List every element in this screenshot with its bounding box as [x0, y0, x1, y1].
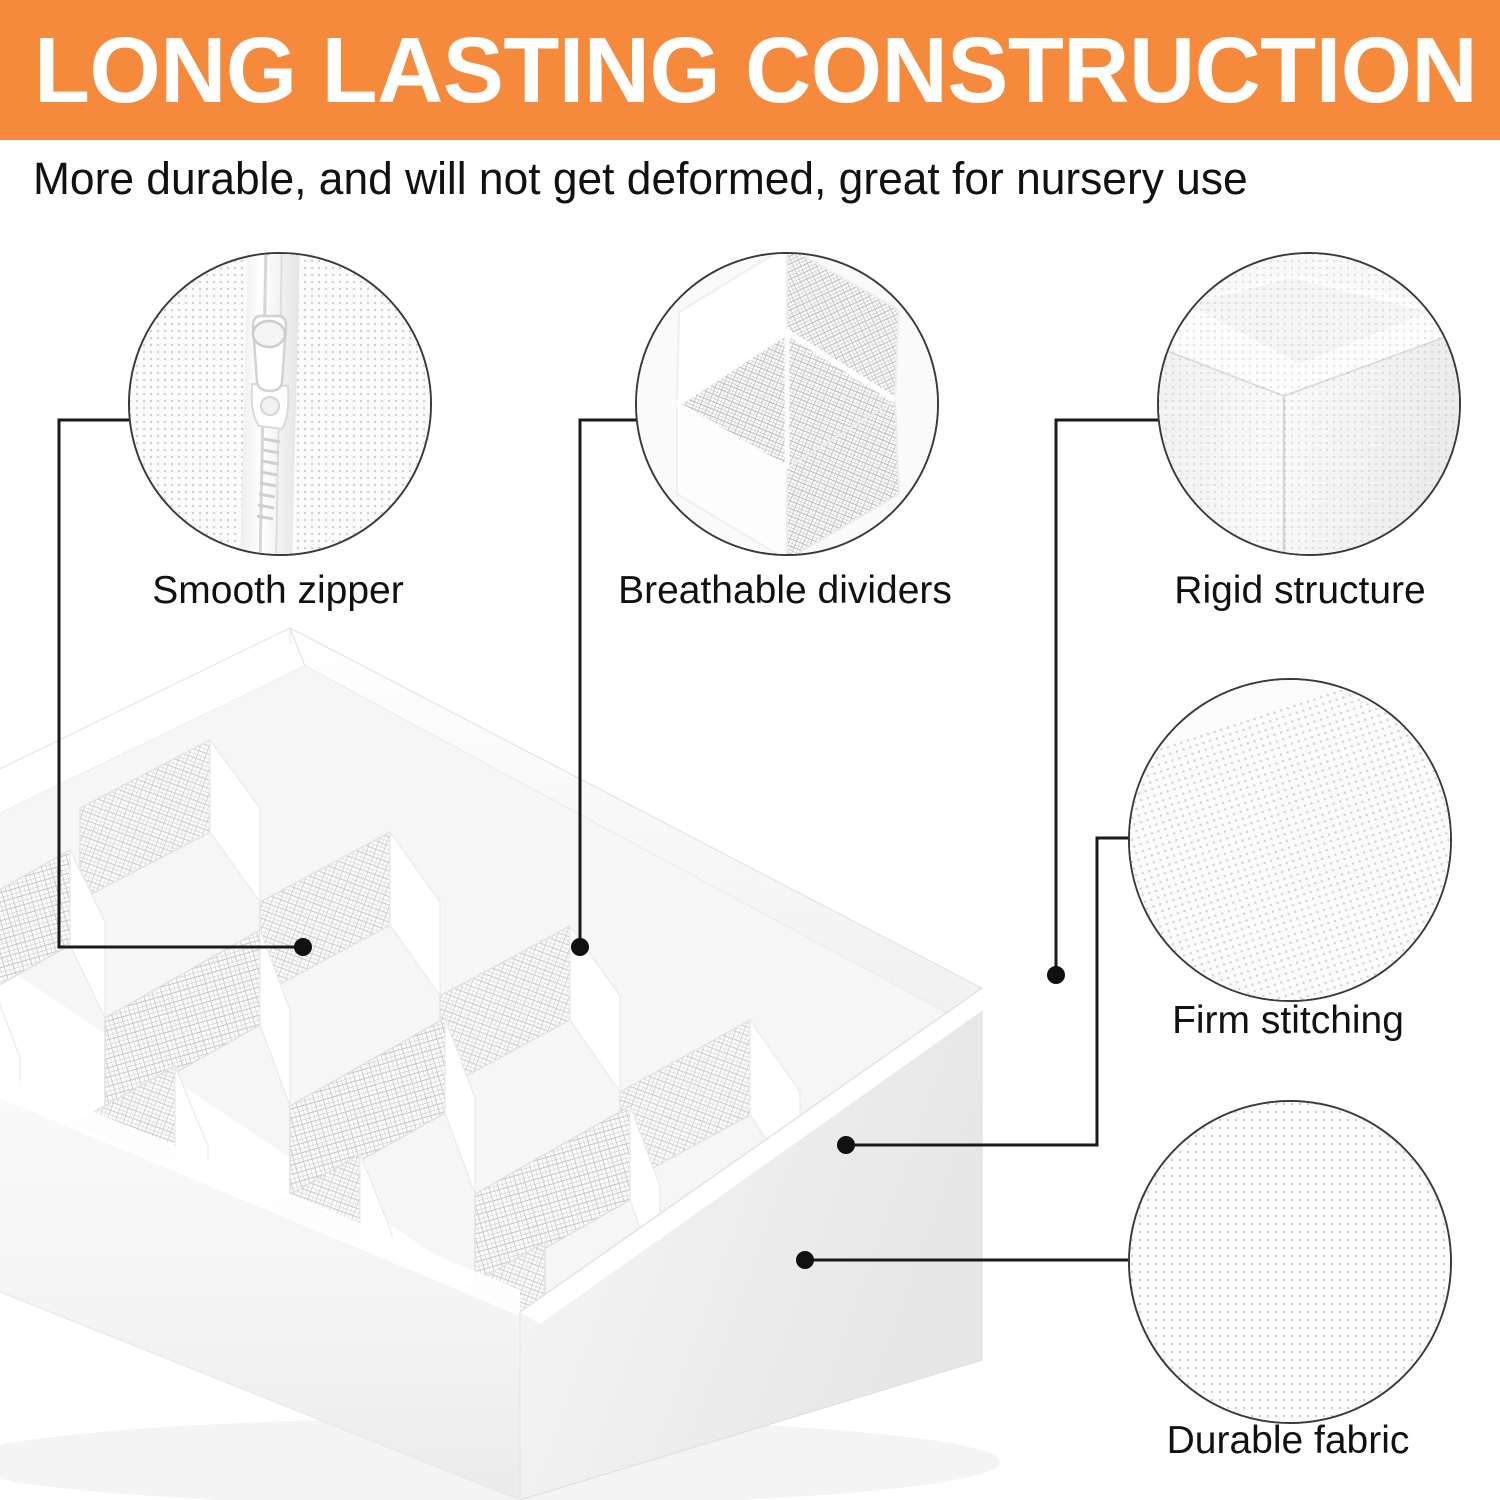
durable-fabric-image: [1128, 1100, 1452, 1424]
header-banner: LONG LASTING CONSTRUCTION: [0, 0, 1500, 140]
callout-label-breathable-dividers: Breathable dividers: [585, 568, 985, 614]
smooth-zipper-image: [128, 252, 432, 556]
subtitle-text: More durable, and will not get deformed,…: [33, 152, 1451, 206]
callout-label-durable-fabric: Durable fabric: [1118, 1418, 1458, 1464]
mesh-divider-icon: [637, 254, 937, 554]
product-image: [0, 600, 1140, 1500]
page-title: LONG LASTING CONSTRUCTION: [34, 20, 1477, 120]
breathable-dividers-image: [635, 252, 939, 556]
rigid-structure-image: [1157, 252, 1461, 556]
callout-label-rigid-structure: Rigid structure: [1125, 568, 1475, 614]
product-illustration: [0, 600, 1140, 1500]
callout-label-firm-stitching: Firm stitching: [1118, 998, 1458, 1044]
firm-stitching-image: [1128, 678, 1452, 1002]
zipper-icon: [130, 254, 430, 554]
callout-label-smooth-zipper: Smooth zipper: [108, 568, 448, 614]
infographic-page: LONG LASTING CONSTRUCTION More durable, …: [0, 0, 1500, 1500]
